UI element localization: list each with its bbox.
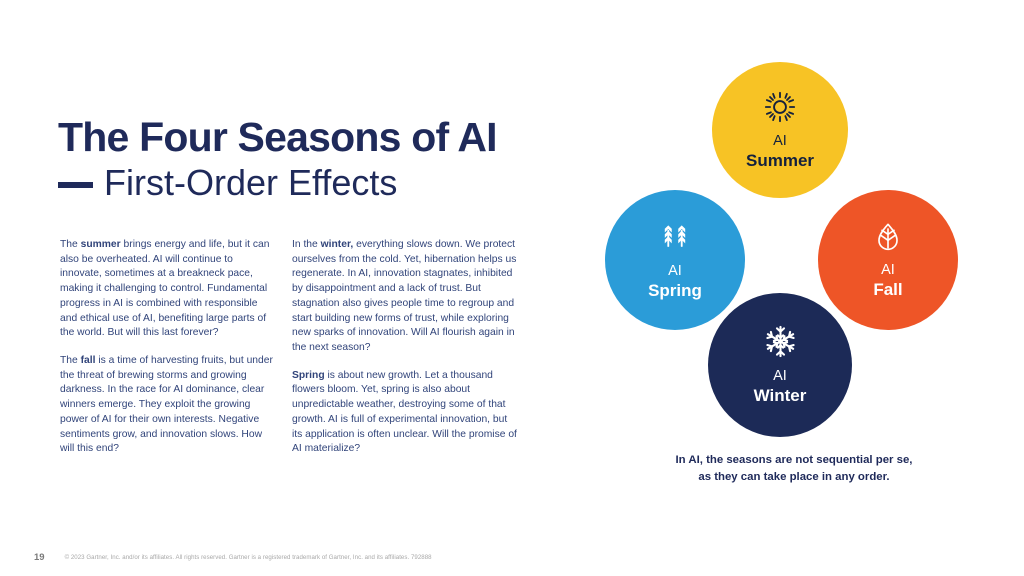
season-circle-spring-label: Spring xyxy=(648,281,702,301)
seasons-diagram: AI Summer AI xyxy=(596,52,992,452)
paragraph-summer-lead: The xyxy=(60,239,81,250)
page-subtitle-row: First-Order Effects xyxy=(58,163,618,203)
title-block: The Four Seasons of AI First-Order Effec… xyxy=(58,116,618,203)
paragraph-fall: The fall is a time of harvesting fruits,… xyxy=(60,354,275,457)
paragraph-winter-lead: In the xyxy=(292,239,321,250)
season-circle-winter-label: Winter xyxy=(754,386,807,406)
diagram-caption-line2: as they can take place in any order. xyxy=(596,469,992,486)
paragraph-winter-rest: everything slows down. We protect oursel… xyxy=(292,239,516,353)
season-circle-fall-prefix: AI xyxy=(881,262,895,279)
snowflake-icon xyxy=(763,324,798,359)
diagram-caption-line1: In AI, the seasons are not sequential pe… xyxy=(596,452,992,469)
em-dash-rule-icon xyxy=(58,182,93,188)
paragraph-summer-rest: brings energy and life, but it can also … xyxy=(60,239,270,338)
paragraph-winter-keyword: winter, xyxy=(321,239,354,250)
slide-footer: 19 © 2023 Gartner, Inc. and/or its affil… xyxy=(0,550,1024,564)
wheat-icon xyxy=(658,220,692,254)
season-circle-spring-prefix: AI xyxy=(668,263,682,280)
paragraph-fall-rest: is a time of harvesting fruits, but unde… xyxy=(60,355,273,454)
body-column-right: In the winter, everything slows down. We… xyxy=(292,238,520,457)
season-circle-winter[interactable]: AI Winter xyxy=(708,293,852,437)
paragraph-spring: Spring is about new growth. Let a thousa… xyxy=(292,369,520,457)
paragraph-spring-keyword: Spring xyxy=(292,370,325,381)
season-circle-summer-label: Summer xyxy=(746,151,814,171)
body-column-left: The summer brings energy and life, but i… xyxy=(60,238,275,457)
copyright-notice: © 2023 Gartner, Inc. and/or its affiliat… xyxy=(65,554,432,561)
season-circle-summer-prefix: AI xyxy=(773,133,787,150)
paragraph-summer-keyword: summer xyxy=(81,239,121,250)
paragraph-summer: The summer brings energy and life, but i… xyxy=(60,238,275,341)
page-subtitle: First-Order Effects xyxy=(104,163,397,203)
page-title: The Four Seasons of AI xyxy=(58,116,618,159)
season-circle-winter-prefix: AI xyxy=(773,368,787,385)
season-circle-fall-label: Fall xyxy=(873,280,902,300)
paragraph-fall-keyword: fall xyxy=(81,355,96,366)
season-circle-spring[interactable]: AI Spring xyxy=(605,190,745,330)
season-circle-summer[interactable]: AI Summer xyxy=(712,62,848,198)
paragraph-fall-lead: The xyxy=(60,355,81,366)
sun-icon xyxy=(763,90,797,124)
season-circle-fall[interactable]: AI Fall xyxy=(818,190,958,330)
page-number: 19 xyxy=(34,552,45,563)
slide-canvas: The Four Seasons of AI First-Order Effec… xyxy=(0,0,1024,576)
paragraph-winter: In the winter, everything slows down. We… xyxy=(292,238,520,356)
diagram-caption: In AI, the seasons are not sequential pe… xyxy=(596,452,992,485)
paragraph-spring-rest: is about new growth. Let a thousand flow… xyxy=(292,370,517,455)
leaf-icon xyxy=(872,221,904,253)
